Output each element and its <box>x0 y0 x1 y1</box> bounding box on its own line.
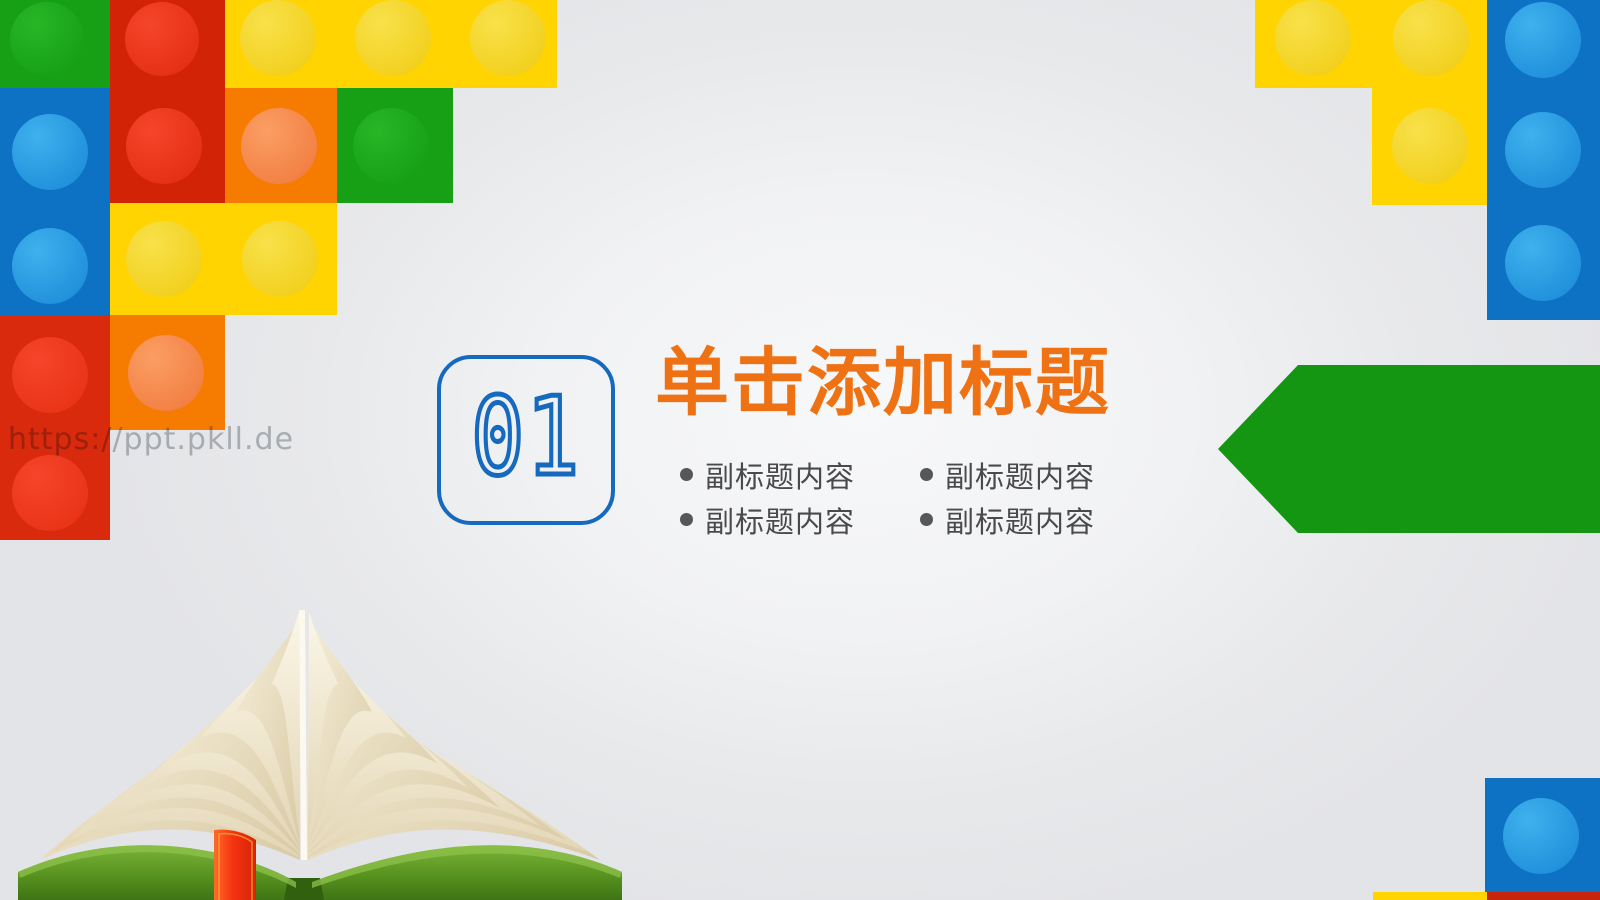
green-arrow-shape <box>1218 365 1600 533</box>
lego-brick-yellow-top-right <box>1255 0 1487 88</box>
bullet-dot-icon <box>920 513 933 526</box>
lego-stud <box>240 0 316 76</box>
list-item[interactable]: 副标题内容 <box>920 499 1160 541</box>
open-book-illustration <box>0 560 640 900</box>
lego-brick-yellow-right-second <box>1372 88 1487 205</box>
lego-stud <box>1505 112 1581 188</box>
lego-brick-red-bottom-left <box>0 315 110 540</box>
presentation-slide: https://ppt.pkll.de 01 单击添加标题 副标题内容 副标题内… <box>0 0 1600 900</box>
lego-brick-blue-left-tall <box>0 88 110 315</box>
lego-brick-red-bottom-strip <box>1487 892 1600 900</box>
lego-stud <box>1505 225 1581 301</box>
lego-stud <box>242 221 318 297</box>
lego-brick-yellow-middle-row <box>110 203 337 315</box>
lego-brick-red-top <box>110 0 225 88</box>
page-title: 单击添加标题 <box>655 346 1111 420</box>
lego-stud <box>128 335 204 411</box>
list-item-label: 副标题内容 <box>945 454 1095 496</box>
lego-stud <box>12 114 88 190</box>
lego-brick-yellow-bottom-strip <box>1373 892 1487 900</box>
list-item-label: 副标题内容 <box>705 499 855 541</box>
lego-brick-orange-middle <box>225 88 337 203</box>
subtitle-bullet-list: 副标题内容 副标题内容 副标题内容 副标题内容 <box>680 452 1160 542</box>
bullet-dot-icon <box>680 468 693 481</box>
lego-stud <box>1392 108 1468 184</box>
section-number-badge: 01 <box>437 355 615 525</box>
section-number-label: 01 <box>471 384 581 492</box>
lego-stud <box>10 2 84 76</box>
lego-stud <box>1503 798 1579 874</box>
lego-brick-green-middle <box>337 88 453 203</box>
bullet-dot-icon <box>920 468 933 481</box>
list-item-label: 副标题内容 <box>705 454 855 496</box>
lego-stud <box>1393 0 1469 76</box>
lego-brick-yellow-top-row <box>225 0 557 88</box>
lego-stud <box>12 455 88 531</box>
lego-stud <box>355 0 431 76</box>
list-item[interactable]: 副标题内容 <box>680 454 920 496</box>
lego-stud <box>125 2 199 76</box>
lego-stud <box>12 337 88 413</box>
lego-brick-blue-right-tall <box>1487 0 1600 320</box>
bullet-dot-icon <box>680 513 693 526</box>
lego-stud <box>353 108 429 184</box>
lego-stud <box>470 0 546 76</box>
list-item[interactable]: 副标题内容 <box>680 499 920 541</box>
lego-stud <box>12 228 88 304</box>
lego-stud <box>1275 0 1351 76</box>
lego-brick-orange-bottom <box>110 315 225 430</box>
lego-stud <box>1505 2 1581 78</box>
list-item-label: 副标题内容 <box>945 499 1095 541</box>
lego-stud <box>241 108 317 184</box>
lego-brick-blue-bottom-right <box>1485 778 1600 892</box>
lego-stud <box>126 108 202 184</box>
list-item[interactable]: 副标题内容 <box>920 454 1160 496</box>
lego-brick-green-top-left <box>0 0 110 88</box>
lego-brick-red-middle <box>110 88 225 203</box>
lego-stud <box>126 221 202 297</box>
